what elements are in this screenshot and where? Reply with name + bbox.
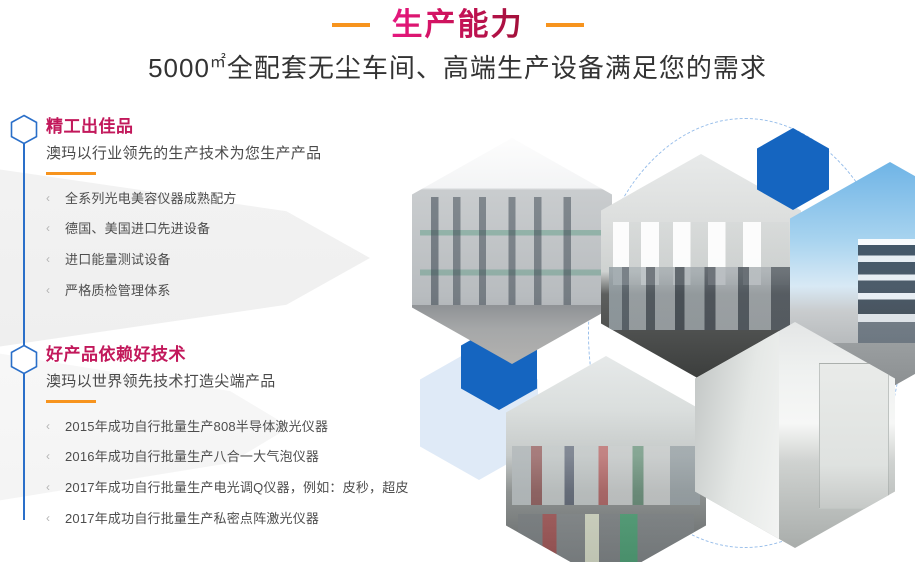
list-item-label: 进口能量测试设备 [65, 252, 171, 267]
list-item: ‹2017年成功自行批量生产私密点阵激光仪器 [46, 510, 386, 528]
list-item: ‹2017年成功自行批量生产电光调Q仪器，例如：皮秒，超皮 [46, 479, 386, 497]
feature-underline [46, 172, 96, 175]
feature-underline [46, 400, 96, 403]
chevron-left-icon: ‹ [46, 282, 50, 298]
feature-heading: 好产品依赖好技术 [46, 344, 386, 367]
chevron-left-icon: ‹ [46, 418, 50, 434]
features-column: 精工出佳品 澳玛以行业领先的生产技术为您生产产品 ‹全系列光电美容仪器成熟配方 … [0, 106, 400, 562]
chevron-left-icon: ‹ [46, 220, 50, 236]
page-title: 生产能力 [392, 8, 524, 42]
list-item: ‹2015年成功自行批量生产808半导体激光仪器 [46, 418, 386, 436]
page-header: 生产能力 5000㎡全配套无尘车间、高端生产设备满足您的需求 [0, 0, 915, 100]
timeline-line [23, 128, 25, 520]
photo-factory-exterior [412, 138, 612, 364]
list-item-label: 德国、美国进口先进设备 [65, 221, 210, 236]
feature-block-craftsmanship: 精工出佳品 澳玛以行业领先的生产技术为您生产产品 ‹全系列光电美容仪器成熟配方 … [46, 116, 386, 312]
list-item-label: 2017年成功自行批量生产电光调Q仪器，例如：皮秒，超皮 [65, 480, 409, 495]
list-item-label: 全系列光电美容仪器成熟配方 [65, 191, 237, 206]
hexagon-photo-gallery [392, 118, 915, 562]
page-subtitle: 5000㎡全配套无尘车间、高端生产设备满足您的需求 [0, 48, 915, 85]
subtitle-text: 全配套无尘车间、高端生产设备满足您的需求 [227, 53, 767, 83]
list-item-label: 2017年成功自行批量生产私密点阵激光仪器 [65, 511, 319, 526]
list-item-label: 2015年成功自行批量生产808半导体激光仪器 [65, 419, 328, 434]
title-row: 生产能力 [0, 8, 915, 42]
feature-bullet-list: ‹2015年成功自行批量生产808半导体激光仪器 ‹2016年成功自行批量生产八… [46, 418, 386, 527]
feature-subheading: 澳玛以世界领先技术打造尖端产品 [46, 371, 386, 392]
list-item: ‹进口能量测试设备 [46, 251, 386, 269]
list-item: ‹2016年成功自行批量生产八合一大气泡仪器 [46, 448, 386, 466]
title-dash-left-icon [332, 23, 370, 27]
chevron-left-icon: ‹ [46, 479, 50, 495]
list-item-label: 严格质检管理体系 [65, 283, 171, 298]
list-item: ‹严格质检管理体系 [46, 282, 386, 300]
feature-block-technology: 好产品依赖好技术 澳玛以世界领先技术打造尖端产品 ‹2015年成功自行批量生产8… [46, 344, 386, 540]
subtitle-area-number: 5000 [148, 53, 210, 83]
hexagon-outline-icon [10, 114, 38, 145]
list-item: ‹全系列光电美容仪器成熟配方 [46, 190, 386, 208]
hexagon-outline-icon [10, 344, 38, 375]
subtitle-area-unit: ㎡ [210, 54, 227, 71]
chevron-left-icon: ‹ [46, 510, 50, 526]
title-dash-right-icon [546, 23, 584, 27]
chevron-left-icon: ‹ [46, 448, 50, 464]
chevron-left-icon: ‹ [46, 251, 50, 267]
list-item-label: 2016年成功自行批量生产八合一大气泡仪器 [65, 449, 319, 464]
feature-subheading: 澳玛以行业领先的生产技术为您生产产品 [46, 143, 386, 164]
chevron-left-icon: ‹ [46, 190, 50, 206]
feature-heading: 精工出佳品 [46, 116, 386, 139]
production-capacity-page: 生产能力 5000㎡全配套无尘车间、高端生产设备满足您的需求 精工出佳品 澳玛以… [0, 0, 915, 562]
hex-photo-factory-exterior[interactable] [412, 138, 612, 364]
feature-bullet-list: ‹全系列光电美容仪器成熟配方 ‹德国、美国进口先进设备 ‹进口能量测试设备 ‹严… [46, 190, 386, 299]
list-item: ‹德国、美国进口先进设备 [46, 220, 386, 238]
